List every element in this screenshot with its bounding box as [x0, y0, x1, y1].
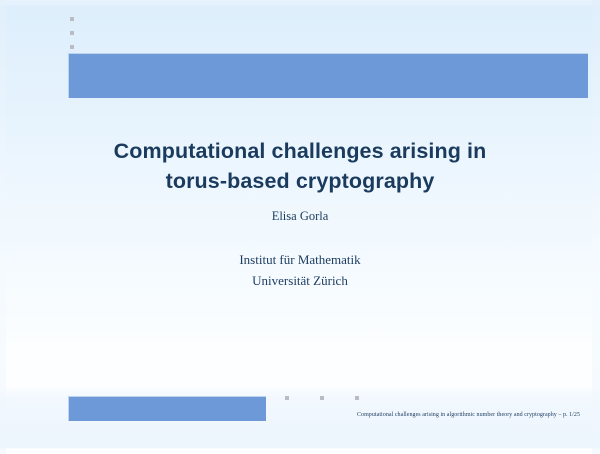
affiliation-line-1: Institut für Mathematik: [0, 249, 600, 270]
square-dot-icon: [285, 396, 289, 400]
affiliation: Institut für Mathematik Universität Züri…: [0, 249, 600, 291]
author-name: Elisa Gorla: [0, 209, 600, 224]
affiliation-line-2: Universität Zürich: [0, 270, 600, 291]
slide-footer: Computational challenges arising in algo…: [0, 412, 580, 418]
square-dot-icon: [320, 396, 324, 400]
slide-top-edge: [0, 0, 600, 5]
presentation-slide: Computational challenges arising in toru…: [0, 0, 600, 454]
square-dot-icon: [70, 31, 74, 35]
slide-right-edge: [592, 0, 600, 454]
title-line-2: torus-based cryptography: [0, 166, 600, 196]
square-dot-icon: [70, 45, 74, 49]
square-dot-icon: [70, 17, 74, 21]
square-dot-icon: [355, 396, 359, 400]
slide-left-edge: [0, 0, 6, 454]
page-title: Computational challenges arising in toru…: [0, 136, 600, 196]
top-accent-bar: [68, 53, 588, 98]
title-line-1: Computational challenges arising in: [0, 136, 600, 166]
